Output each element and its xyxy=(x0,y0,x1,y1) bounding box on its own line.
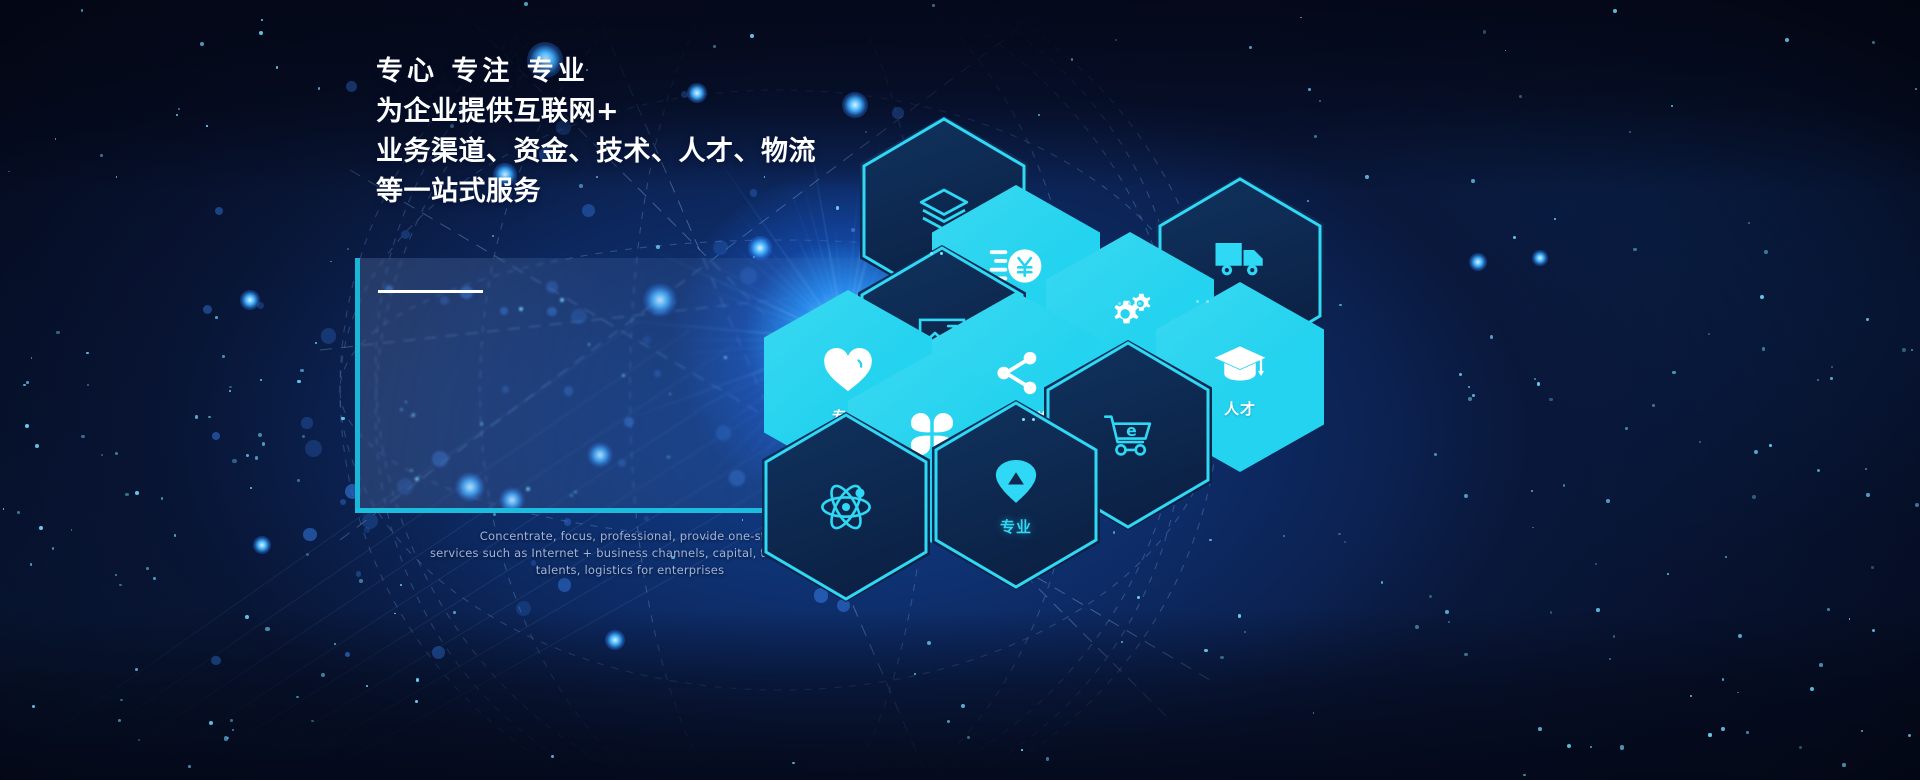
seam-dot xyxy=(1196,300,1199,303)
truck-icon xyxy=(1212,229,1268,285)
seam-dot xyxy=(940,252,943,255)
graduation-cap-icon xyxy=(1212,335,1268,391)
seam-dot xyxy=(1206,300,1209,303)
cart-e-icon: e xyxy=(1100,407,1156,463)
hexagon-cluster: 资金物流技术专心业务渠道人才专注e专业 xyxy=(0,0,1920,780)
seam-dot xyxy=(930,252,933,255)
hex-tile-label: 专业 xyxy=(1000,516,1032,537)
seam-dot xyxy=(1118,302,1121,305)
svg-text:e: e xyxy=(1126,421,1137,440)
hex-tile-label: 人才 xyxy=(1224,398,1256,419)
diamond-icon xyxy=(988,453,1044,509)
seam-dot xyxy=(1138,302,1141,305)
seam-dot xyxy=(1032,418,1035,421)
banner-stage: // rays drawn below by populate script 专… xyxy=(0,0,1920,780)
seam-dot xyxy=(1128,302,1131,305)
seam-dot xyxy=(1022,418,1025,421)
gears-icon xyxy=(1102,285,1158,341)
atom-icon xyxy=(818,479,874,535)
